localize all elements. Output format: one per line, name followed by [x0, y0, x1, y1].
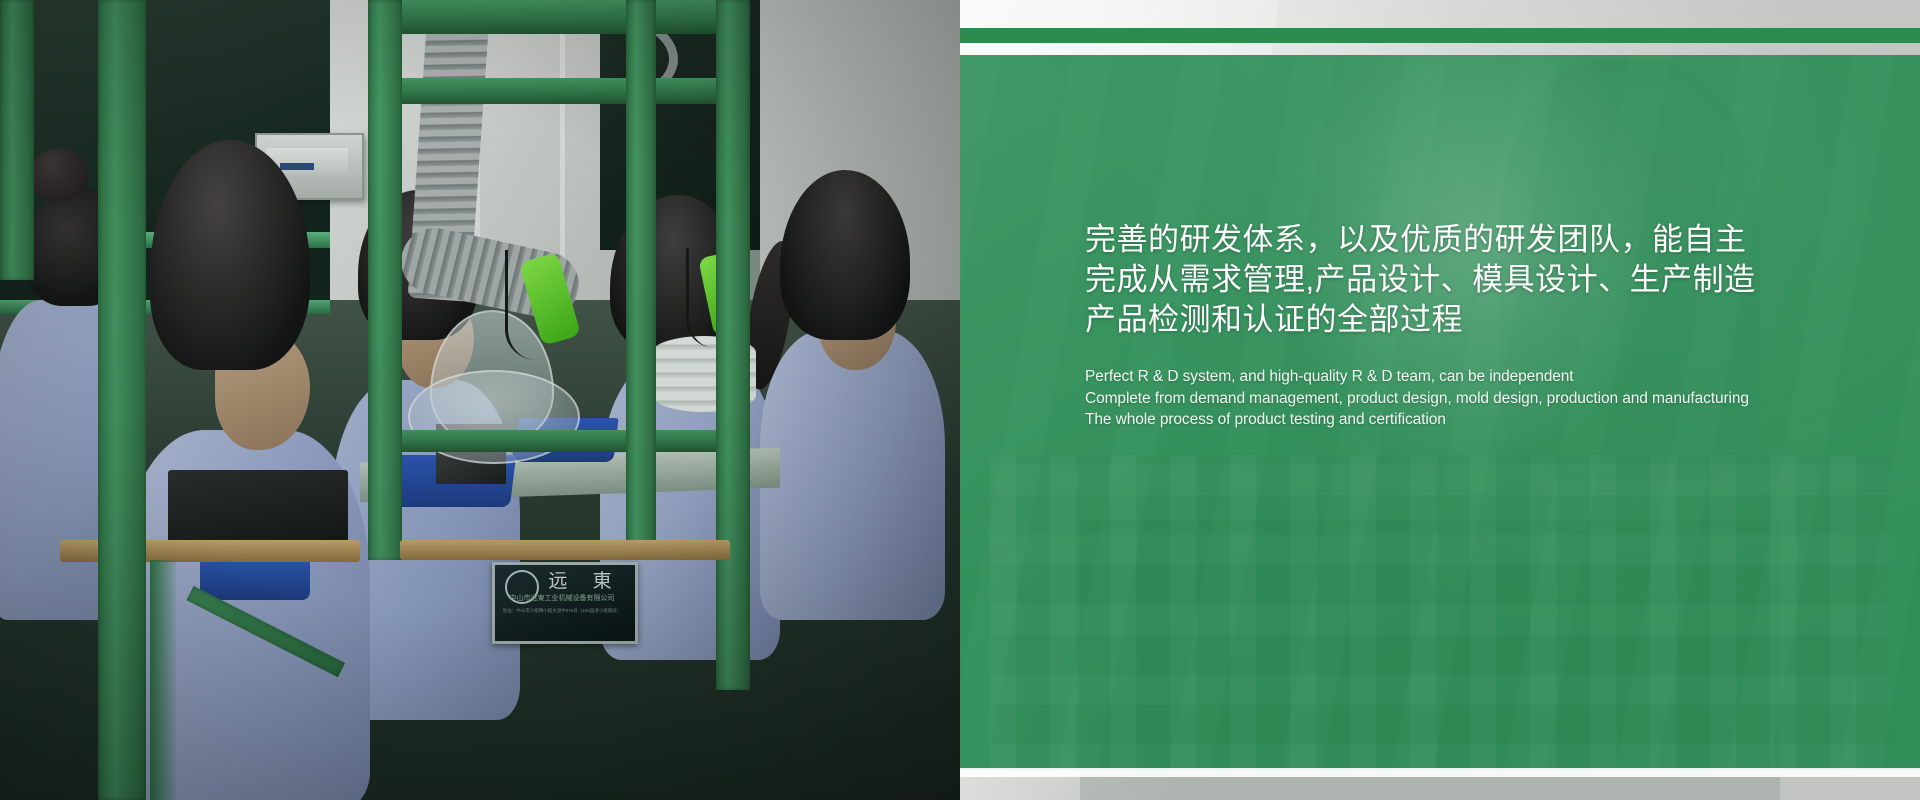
- bottom-accent-gap: [960, 768, 1920, 777]
- nameplate-company: 中山市远東工业机械设备有限公司: [497, 594, 627, 603]
- photo-frame-post: [716, 0, 750, 690]
- factory-photo: 远 東 中山市远東工业机械设备有限公司 地址：中山市小榄镇小榄大道中376号（1…: [0, 0, 960, 800]
- banner-stage: 远 東 中山市远東工业机械设备有限公司 地址：中山市小榄镇小榄大道中376号（1…: [0, 0, 1920, 800]
- right-section: 完善的研发体系，以及优质的研发团队，能自主 完成从需求管理,产品设计、模具设计、…: [960, 0, 1920, 800]
- nameplate-brand: 远 東: [545, 566, 625, 593]
- subtext-line-1: Perfect R & D system, and high-quality R…: [1085, 366, 1875, 388]
- headline-line-1: 完善的研发体系，以及优质的研发团队，能自主: [1085, 220, 1875, 260]
- photo-frame-beam: [370, 0, 750, 34]
- subtext-line-3: The whole process of product testing and…: [1085, 409, 1875, 431]
- photo-bench-leg: [150, 560, 176, 800]
- green-content-panel: 完善的研发体系，以及优质的研发团队，能自主 完成从需求管理,产品设计、模具设计、…: [960, 55, 1920, 770]
- photo-frame-post: [368, 0, 402, 560]
- headline-line-2: 完成从需求管理,产品设计、模具设计、生产制造: [1085, 260, 1875, 300]
- photo-frame-beam: [368, 430, 750, 452]
- nameplate-detail: 地址：中山市小榄镇小榄大道中376号（105国道小榄路段）: [497, 608, 627, 615]
- photo-worker-hair-bun: [30, 148, 88, 202]
- photo-parts-bin: [200, 560, 310, 600]
- banner-headline: 完善的研发体系，以及优质的研发团队，能自主 完成从需求管理,产品设计、模具设计、…: [1085, 220, 1875, 340]
- photo-frame-post: [0, 0, 34, 280]
- photo-frame-post: [98, 0, 146, 800]
- photo-worker-shirt: [760, 330, 945, 620]
- headline-line-3: 产品检测和认证的全部过程: [1085, 300, 1875, 340]
- top-accent-bar: [960, 28, 1920, 43]
- photo-frame-beam: [370, 78, 750, 104]
- photo-frame-post: [626, 0, 656, 560]
- photo-breaker-switch: [280, 163, 314, 170]
- photo-machine-unit: [168, 470, 348, 548]
- banner-copy: 完善的研发体系，以及优质的研发团队，能自主 完成从需求管理,产品设计、模具设计、…: [1085, 220, 1875, 431]
- panel-texture-overlay-2: [990, 455, 1890, 770]
- subtext-line-2: Complete from demand management, product…: [1085, 388, 1875, 410]
- banner-subtext: Perfect R & D system, and high-quality R…: [1085, 366, 1875, 431]
- photo-bench-wood-edge: [400, 540, 730, 560]
